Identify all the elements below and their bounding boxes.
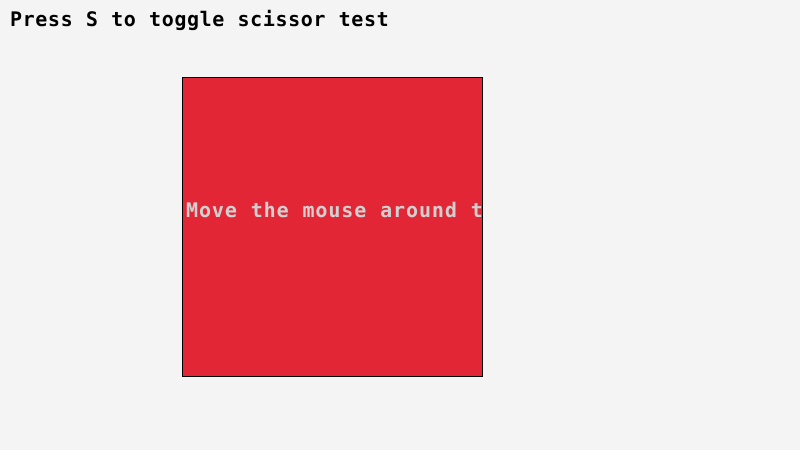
scissor-toggle-hint: Press S to toggle scissor test xyxy=(10,7,389,31)
scissor-clip-region[interactable]: Move the mouse around to reveal this tex… xyxy=(182,77,483,377)
scissor-clipped-message: Move the mouse around to reveal this tex… xyxy=(186,199,483,221)
raylib-scissor-test-window: Press S to toggle scissor test Move the … xyxy=(0,0,800,450)
